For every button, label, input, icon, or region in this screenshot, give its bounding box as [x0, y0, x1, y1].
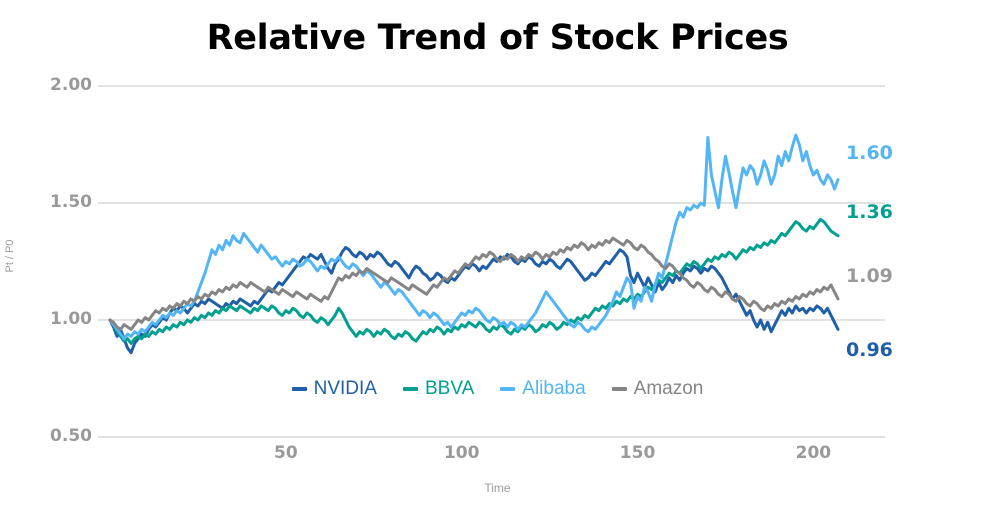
y-tick-label: 1.00	[40, 309, 92, 329]
legend-label: Alibaba	[522, 378, 585, 400]
x-tick-label: 150	[598, 443, 678, 463]
series-line-bbva	[110, 219, 838, 343]
y-axis-title: Pt / P0	[4, 239, 16, 272]
y-tick-label: 1.50	[40, 192, 92, 212]
legend-label: NVIDIA	[314, 378, 377, 400]
x-tick-label: 100	[422, 443, 502, 463]
end-value-label: 1.60	[846, 142, 893, 164]
legend-item-nvidia[interactable]: NVIDIA	[292, 378, 377, 400]
legend-dash-icon	[500, 387, 515, 391]
x-tick-label: 200	[773, 443, 853, 463]
end-value-label: 0.96	[846, 339, 893, 361]
legend-dash-icon	[403, 387, 418, 391]
chart-canvas	[0, 0, 995, 512]
legend-label: Amazon	[634, 378, 704, 400]
chart-legend: NVIDIABBVAAlibabaAmazon	[0, 378, 995, 400]
legend-label: BBVA	[425, 378, 474, 400]
legend-item-amazon[interactable]: Amazon	[612, 378, 704, 400]
plot-area	[0, 0, 995, 512]
legend-dash-icon	[612, 387, 627, 391]
legend-dash-icon	[292, 387, 307, 391]
y-tick-label: 2.00	[40, 75, 92, 95]
x-tick-label: 50	[246, 443, 326, 463]
legend-item-alibaba[interactable]: Alibaba	[500, 378, 585, 400]
stock-price-chart: Relative Trend of Stock Prices 2.001.501…	[0, 0, 995, 512]
x-axis-title: Time	[0, 481, 995, 495]
end-value-label: 1.36	[846, 201, 893, 223]
legend-item-bbva[interactable]: BBVA	[403, 378, 474, 400]
series-line-alibaba	[110, 135, 838, 339]
end-value-label: 1.09	[846, 265, 893, 287]
y-tick-label: 0.50	[40, 426, 92, 446]
series-line-nvidia	[110, 247, 838, 352]
